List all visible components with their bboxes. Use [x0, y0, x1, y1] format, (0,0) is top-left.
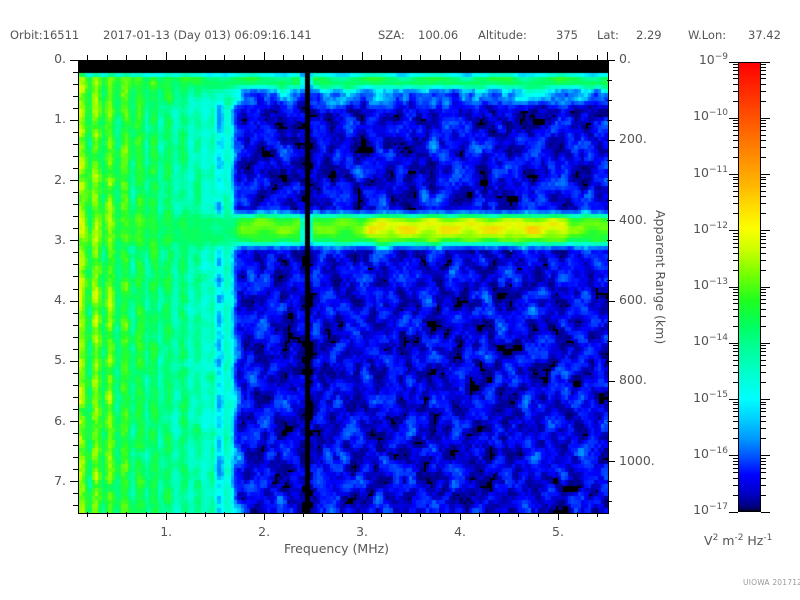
colorbar-tick-minor [733, 186, 738, 187]
x-tick-minor [420, 512, 421, 517]
x-tick-minor [146, 512, 147, 517]
y2-tick-minor [607, 361, 612, 362]
x-tick-minor-top [322, 55, 323, 60]
colorbar-tick-minor-right [761, 157, 766, 158]
y-tick-minor [73, 168, 78, 169]
x-tick-minor-top [107, 55, 108, 60]
colorbar-tick-minor [733, 70, 738, 71]
y-tick-major [70, 301, 78, 302]
colorbar-tick-minor [733, 126, 738, 127]
x-tick-label: 4. [440, 524, 480, 539]
y2-tick-minor [607, 200, 612, 201]
colorbar-tick-major [729, 174, 738, 175]
colorbar [738, 62, 761, 512]
x-tick-major [460, 512, 461, 520]
y2-tick-major [607, 381, 615, 382]
colorbar-tick-minor-right [761, 402, 766, 403]
y2-tick-label: 200. [619, 131, 647, 146]
x-tick-label: 2. [244, 524, 284, 539]
y2-tick-label: 600. [619, 292, 647, 307]
y-axis-title-right: Apparent Range (km) [653, 210, 668, 344]
colorbar-tick-minor [733, 84, 738, 85]
x-tick-major [166, 512, 167, 520]
y-tick-minor [73, 228, 78, 229]
y-tick-major [70, 180, 78, 181]
y-tick-minor [73, 108, 78, 109]
colorbar-tick-minor-right [761, 213, 766, 214]
header-info-bar: Orbit:16511 2017-01-13 (Day 013) 06:09:1… [0, 28, 800, 48]
x-tick-minor-top [185, 55, 186, 60]
colorbar-tick-minor [733, 140, 738, 141]
colorbar-tick-minor [733, 360, 738, 361]
y-tick-label: 0. [0, 51, 66, 66]
x-tick-minor [577, 512, 578, 517]
y-tick-major [70, 361, 78, 362]
y-tick-minor [73, 72, 78, 73]
colorbar-tick-major [729, 455, 738, 456]
colorbar-tick-minor [733, 157, 738, 158]
x-tick-label: 5. [538, 524, 578, 539]
x-tick-edge-top [607, 52, 608, 60]
x-tick-major [558, 512, 559, 520]
colorbar-tick-label: 10−13 [676, 277, 728, 292]
colorbar-tick-minor [733, 309, 738, 310]
x-tick-label: 3. [342, 524, 382, 539]
colorbar-tick-minor [733, 345, 738, 346]
colorbar-tick-minor-right [761, 91, 766, 92]
colorbar-tick-minor [733, 243, 738, 244]
x-tick-minor-top [126, 55, 127, 60]
y-tick-minor [73, 313, 78, 314]
x-tick-major-top [460, 52, 461, 60]
colorbar-tick-minor-right [761, 74, 766, 75]
x-tick-minor [126, 512, 127, 517]
y2-tick-label: 1000. [619, 453, 655, 468]
x-tick-minor-top [518, 55, 519, 60]
x-tick-minor [342, 512, 343, 517]
y-tick-minor [73, 397, 78, 398]
y-tick-minor [73, 505, 78, 506]
colorbar-tick-minor [733, 438, 738, 439]
colorbar-tick-major-right [761, 174, 770, 175]
x-tick-minor-top [205, 55, 206, 60]
x-tick-major [362, 512, 363, 520]
x-tick-minor [205, 512, 206, 517]
x-tick-minor [381, 512, 382, 517]
y2-tick-minor [607, 481, 612, 482]
y2-tick-minor [607, 441, 612, 442]
y-tick-major [70, 421, 78, 422]
y2-tick-minor [607, 401, 612, 402]
colorbar-tick-label: 10−17 [676, 502, 728, 517]
colorbar-tick-minor-right [761, 179, 766, 180]
colorbar-tick-minor [733, 191, 738, 192]
x-tick-major-top [558, 52, 559, 60]
colorbar-tick-minor-right [761, 365, 766, 366]
y2-tick-major [607, 220, 615, 221]
colorbar-tick-major [729, 62, 738, 63]
y-tick-minor [73, 216, 78, 217]
y-tick-minor [73, 493, 78, 494]
header-wlon-label: W.Lon: [688, 28, 726, 42]
y2-tick-minor [607, 120, 612, 121]
x-tick-label: 1. [146, 524, 186, 539]
colorbar-tick-minor-right [761, 147, 766, 148]
colorbar-tick-minor-right [761, 120, 766, 121]
x-tick-minor-top [479, 55, 480, 60]
y-tick-label: 4. [0, 292, 66, 307]
x-tick-minor [440, 512, 441, 517]
colorbar-tick-major-right [761, 230, 770, 231]
y-tick-minor [73, 457, 78, 458]
colorbar-tick-minor [733, 289, 738, 290]
colorbar-tick-minor [733, 299, 738, 300]
colorbar-tick-minor [733, 239, 738, 240]
header-altitude-label: Altitude: [478, 28, 527, 42]
colorbar-tick-minor-right [761, 243, 766, 244]
colorbar-tick-minor-right [761, 408, 766, 409]
y2-tick-minor [607, 240, 612, 241]
colorbar-tick-minor [733, 270, 738, 271]
header-wlon-value: 37.42 [748, 28, 781, 42]
y-tick-label: 1. [0, 111, 66, 126]
y-tick-minor [73, 337, 78, 338]
colorbar-tick-minor [733, 101, 738, 102]
colorbar-tick-minor [733, 428, 738, 429]
colorbar-tick-label: 10−10 [676, 108, 728, 123]
header-sza-label: SZA: [378, 28, 405, 42]
colorbar-tick-minor-right [761, 70, 766, 71]
y2-tick-minor [607, 501, 612, 502]
colorbar-tick-minor-right [761, 126, 766, 127]
colorbar-tick-minor [733, 461, 738, 462]
colorbar-gradient [738, 62, 761, 512]
colorbar-tick-minor-right [761, 289, 766, 290]
colorbar-tick-major [729, 118, 738, 119]
x-tick-minor-top [342, 55, 343, 60]
colorbar-tick-minor [733, 179, 738, 180]
colorbar-tick-minor-right [761, 183, 766, 184]
colorbar-tick-major-right [761, 62, 770, 63]
colorbar-tick-minor-right [761, 468, 766, 469]
y-tick-minor [73, 192, 78, 193]
colorbar-tick-major-right [761, 343, 770, 344]
y-tick-minor [73, 409, 78, 410]
colorbar-tick-minor [733, 292, 738, 293]
colorbar-unit-label: V2 m-2 Hz-1 [704, 533, 772, 548]
colorbar-tick-label: 10−12 [676, 221, 728, 236]
colorbar-tick-minor [733, 495, 738, 496]
colorbar-tick-minor-right [761, 372, 766, 373]
colorbar-tick-label: 10−11 [676, 165, 728, 180]
y-tick-minor [73, 252, 78, 253]
colorbar-tick-minor-right [761, 140, 766, 141]
colorbar-tick-minor-right [761, 101, 766, 102]
colorbar-tick-minor-right [761, 461, 766, 462]
colorbar-tick-minor-right [761, 260, 766, 261]
colorbar-tick-minor [733, 408, 738, 409]
header-sza-value: 100.06 [418, 28, 458, 42]
colorbar-tick-minor [733, 67, 738, 68]
y2-tick-minor [607, 180, 612, 181]
colorbar-tick-minor [733, 464, 738, 465]
y-tick-label: 3. [0, 232, 66, 247]
colorbar-tick-minor-right [761, 239, 766, 240]
colorbar-tick-minor [733, 458, 738, 459]
colorbar-tick-minor [733, 402, 738, 403]
colorbar-tick-minor-right [761, 478, 766, 479]
colorbar-tick-minor [733, 421, 738, 422]
colorbar-tick-minor-right [761, 84, 766, 85]
colorbar-tick-minor-right [761, 326, 766, 327]
colorbar-tick-minor-right [761, 345, 766, 346]
y-tick-label: 7. [0, 473, 66, 488]
colorbar-tick-minor-right [761, 464, 766, 465]
colorbar-tick-minor-right [761, 485, 766, 486]
colorbar-tick-minor-right [761, 495, 766, 496]
x-tick-minor-top [538, 55, 539, 60]
colorbar-tick-major-right [761, 399, 770, 400]
y-tick-major [70, 60, 78, 61]
colorbar-tick-minor-right [761, 253, 766, 254]
colorbar-tick-minor [733, 177, 738, 178]
colorbar-tick-minor-right [761, 123, 766, 124]
x-tick-minor-top [401, 55, 402, 60]
colorbar-tick-minor [733, 468, 738, 469]
x-tick-minor [87, 512, 88, 517]
x-tick-major-top [166, 52, 167, 60]
x-tick-minor [244, 512, 245, 517]
colorbar-tick-label: 10−14 [676, 333, 728, 348]
colorbar-tick-minor [733, 416, 738, 417]
y-tick-major [70, 481, 78, 482]
colorbar-tick-minor-right [761, 292, 766, 293]
y2-tick-minor [607, 100, 612, 101]
y-tick-minor [73, 349, 78, 350]
y2-tick-minor [607, 160, 612, 161]
y2-tick-label: 0. [619, 51, 631, 66]
colorbar-tick-minor-right [761, 247, 766, 248]
colorbar-tick-minor-right [761, 186, 766, 187]
y2-tick-minor [607, 321, 612, 322]
colorbar-tick-minor [733, 130, 738, 131]
colorbar-tick-minor [733, 135, 738, 136]
spectrogram-heatmap [79, 61, 608, 513]
colorbar-tick-minor [733, 253, 738, 254]
colorbar-tick-minor [733, 365, 738, 366]
colorbar-tick-minor-right [761, 421, 766, 422]
colorbar-tick-major [729, 399, 738, 400]
colorbar-tick-minor [733, 147, 738, 148]
y-tick-minor [73, 469, 78, 470]
y-tick-minor [73, 373, 78, 374]
colorbar-tick-minor [733, 355, 738, 356]
y-tick-minor [73, 433, 78, 434]
colorbar-tick-major [729, 230, 738, 231]
x-tick-major [264, 512, 265, 520]
colorbar-tick-minor [733, 91, 738, 92]
y2-tick-minor [607, 341, 612, 342]
colorbar-tick-minor [733, 213, 738, 214]
y-tick-minor [73, 204, 78, 205]
x-tick-minor [303, 512, 304, 517]
y2-tick-label: 400. [619, 212, 647, 227]
colorbar-tick-minor-right [761, 196, 766, 197]
y-tick-minor [73, 264, 78, 265]
colorbar-tick-minor-right [761, 295, 766, 296]
y-tick-major [70, 240, 78, 241]
x-tick-major-top [264, 52, 265, 60]
colorbar-tick-minor-right [761, 177, 766, 178]
colorbar-tick-minor [733, 74, 738, 75]
x-axis-title: Frequency (MHz) [284, 541, 389, 556]
colorbar-tick-major [729, 343, 738, 344]
y-tick-minor [73, 325, 78, 326]
y2-tick-major [607, 140, 615, 141]
colorbar-tick-minor-right [761, 233, 766, 234]
colorbar-tick-minor [733, 382, 738, 383]
y-tick-minor [73, 84, 78, 85]
x-tick-minor [499, 512, 500, 517]
colorbar-tick-major-right [761, 118, 770, 119]
y-tick-minor [73, 385, 78, 386]
y2-tick-major [607, 301, 615, 302]
x-tick-major-top [362, 52, 363, 60]
colorbar-tick-minor [733, 411, 738, 412]
x-tick-minor [185, 512, 186, 517]
colorbar-tick-minor-right [761, 360, 766, 361]
x-tick-minor-top [597, 55, 598, 60]
x-tick-minor-top [381, 55, 382, 60]
colorbar-tick-minor [733, 326, 738, 327]
y-tick-minor [73, 276, 78, 277]
colorbar-tick-minor-right [761, 203, 766, 204]
colorbar-tick-minor [733, 120, 738, 121]
x-tick-minor-top [283, 55, 284, 60]
colorbar-tick-minor-right [761, 64, 766, 65]
colorbar-tick-minor [733, 78, 738, 79]
colorbar-tick-minor [733, 478, 738, 479]
colorbar-tick-minor-right [761, 309, 766, 310]
x-tick-minor [538, 512, 539, 517]
header-datetime: 2017-01-13 (Day 013) 06:09:16.141 [103, 28, 312, 42]
header-altitude-value: 375 [556, 28, 578, 42]
colorbar-tick-minor [733, 472, 738, 473]
x-tick-minor-top [244, 55, 245, 60]
colorbar-tick-label: 10−9 [676, 52, 728, 67]
colorbar-tick-minor [733, 203, 738, 204]
y-tick-label: 2. [0, 172, 66, 187]
colorbar-tick-minor [733, 372, 738, 373]
colorbar-tick-label: 10−16 [676, 446, 728, 461]
colorbar-tick-minor-right [761, 382, 766, 383]
colorbar-tick-minor-right [761, 316, 766, 317]
colorbar-tick-major-right [761, 512, 770, 513]
colorbar-tick-minor-right [761, 416, 766, 417]
colorbar-tick-minor [733, 303, 738, 304]
x-tick-minor [518, 512, 519, 517]
colorbar-tick-minor-right [761, 404, 766, 405]
y-tick-major [70, 120, 78, 121]
y2-tick-minor [607, 260, 612, 261]
ionogram-plot-area [78, 60, 609, 514]
x-tick-minor-top [146, 55, 147, 60]
y-tick-label: 5. [0, 352, 66, 367]
x-tick-minor [283, 512, 284, 517]
colorbar-tick-major [729, 287, 738, 288]
colorbar-tick-minor [733, 348, 738, 349]
x-tick-minor [597, 512, 598, 517]
y-tick-minor [73, 289, 78, 290]
colorbar-tick-label: 10−15 [676, 390, 728, 405]
colorbar-tick-minor-right [761, 458, 766, 459]
colorbar-tick-minor-right [761, 270, 766, 271]
x-tick-minor [224, 512, 225, 517]
header-lat-value: 2.29 [636, 28, 662, 42]
header-orbit: Orbit:16511 [10, 28, 79, 42]
y-tick-minor [73, 445, 78, 446]
x-tick-minor-top [440, 55, 441, 60]
y2-tick-minor [607, 421, 612, 422]
colorbar-tick-minor-right [761, 303, 766, 304]
colorbar-tick-minor [733, 404, 738, 405]
header-lat-label: Lat: [597, 28, 619, 42]
x-tick-minor-top [224, 55, 225, 60]
x-tick-minor-top [577, 55, 578, 60]
x-tick-minor [401, 512, 402, 517]
x-tick-minor-top [303, 55, 304, 60]
y2-tick-major [607, 461, 615, 462]
y2-tick-label: 800. [619, 372, 647, 387]
y-tick-minor [73, 132, 78, 133]
colorbar-tick-minor [733, 260, 738, 261]
colorbar-tick-minor-right [761, 355, 766, 356]
colorbar-tick-minor [733, 247, 738, 248]
colorbar-tick-major-right [761, 287, 770, 288]
y-tick-minor [73, 96, 78, 97]
colorbar-tick-minor [733, 196, 738, 197]
watermark: UIOWA 20171221 [743, 578, 800, 587]
colorbar-tick-minor-right [761, 411, 766, 412]
colorbar-tick-minor [733, 123, 738, 124]
colorbar-tick-minor-right [761, 351, 766, 352]
x-tick-minor [322, 512, 323, 517]
colorbar-tick-minor-right [761, 472, 766, 473]
colorbar-tick-minor-right [761, 67, 766, 68]
colorbar-tick-major [729, 512, 738, 513]
y2-tick-major [607, 60, 615, 61]
colorbar-tick-minor [733, 316, 738, 317]
colorbar-tick-minor [733, 351, 738, 352]
y2-tick-minor [607, 280, 612, 281]
colorbar-tick-minor-right [761, 78, 766, 79]
colorbar-tick-minor [733, 183, 738, 184]
x-tick-minor-top [87, 55, 88, 60]
colorbar-tick-minor [733, 236, 738, 237]
x-tick-minor-top [420, 55, 421, 60]
y2-tick-minor [607, 80, 612, 81]
colorbar-tick-minor [733, 233, 738, 234]
colorbar-tick-minor-right [761, 135, 766, 136]
colorbar-tick-minor [733, 64, 738, 65]
x-tick-minor [107, 512, 108, 517]
y-tick-minor [73, 156, 78, 157]
colorbar-tick-minor-right [761, 191, 766, 192]
colorbar-tick-minor-right [761, 428, 766, 429]
colorbar-tick-minor-right [761, 348, 766, 349]
colorbar-tick-minor-right [761, 438, 766, 439]
colorbar-tick-minor-right [761, 236, 766, 237]
